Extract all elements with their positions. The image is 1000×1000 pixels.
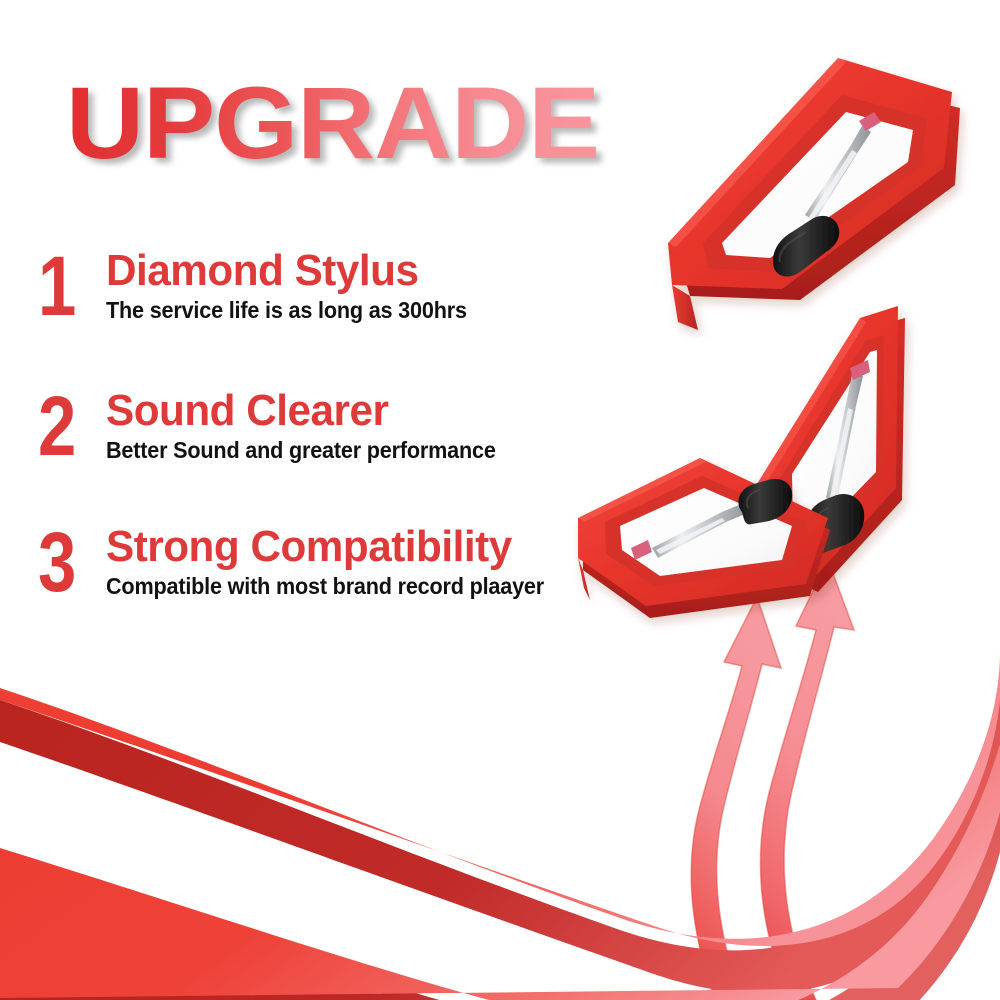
stylus-needle-lower [631,479,792,560]
feature-subtitle-2: Better Sound and greater performance [106,438,496,463]
feature-number-2: 2 [38,388,76,465]
page-title: UPGRADE [66,72,599,174]
feature-subtitle-1: The service life is as long as 300hrs [106,298,467,323]
stylus-needle-upper [773,112,881,277]
diamond-tip-upper [859,112,881,131]
infographic-canvas: UPGRADE 1 Diamond Stylus The service lif… [0,0,1000,1000]
ribbon-upper [0,652,1000,994]
stylus-cartridge-lower [578,458,830,618]
feature-text-3: Strong Compatibility Compatible with mos… [106,524,572,599]
feature-title-1: Diamond Stylus [106,248,474,294]
arrow-left [691,597,781,1000]
feature-number-3: 3 [38,524,76,601]
diamond-tip-right [850,360,870,380]
ribbon-lower [0,744,1000,1000]
feature-subtitle-3: Compatible with most brand record plaaye… [106,574,544,599]
feature-title-2: Sound Clearer [106,388,504,434]
feature-text-1: Diamond Stylus The service life is as lo… [106,248,490,323]
diamond-tip-lower [631,540,652,560]
stylus-cartridge-upper [668,58,960,330]
stylus-needle-right [804,360,870,554]
feature-number-1: 1 [38,248,76,325]
stylus-cartridge-right [752,306,905,592]
feature-title-3: Strong Compatibility [106,524,553,570]
feature-text-2: Sound Clearer Better Sound and greater p… [106,388,521,463]
arrow-right [760,560,854,1000]
